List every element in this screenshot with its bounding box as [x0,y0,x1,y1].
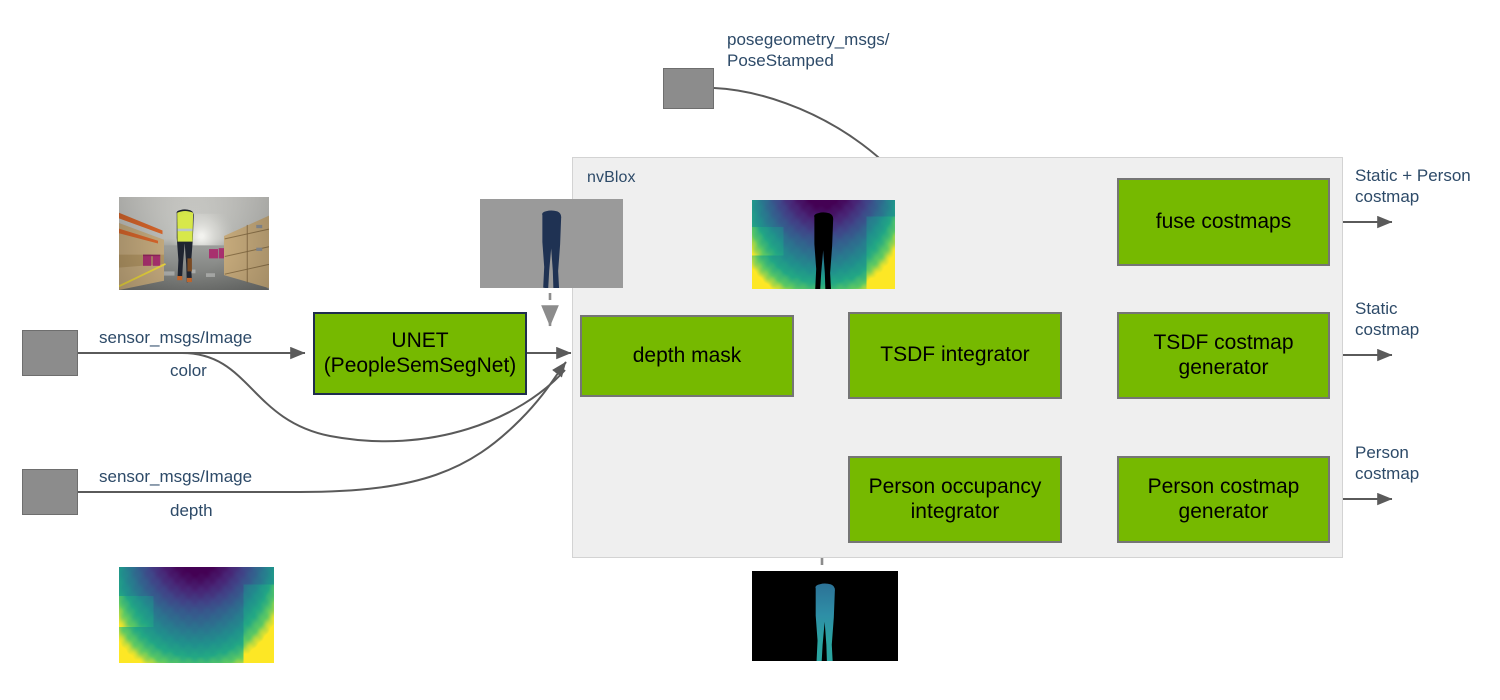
depth-field-label: depth [170,501,213,522]
process-unet[interactable]: UNET (PeopleSemSegNet) [313,312,527,395]
process-person-cm-line1: Person costmap [1148,475,1300,499]
process-person-occ-line1: Person occupancy [869,475,1042,499]
diagram-canvas: nvBlox posegeometry_msgs/ PoseStamped se… [0,0,1500,700]
output-static-label: Static costmap [1355,299,1419,340]
thumbnail-depth-input [119,567,274,663]
process-depth-mask-line1: depth mask [633,344,742,368]
thumbnail-person-depth [752,571,898,661]
process-fuse-costmaps[interactable]: fuse costmaps [1117,178,1330,266]
depth-topic-label: sensor_msgs/Image [99,467,252,488]
color-camera-node[interactable] [22,330,78,376]
process-tsdf-integrator-line1: TSDF integrator [880,343,1029,367]
process-tsdf-cm-line2: generator [1153,356,1293,380]
process-tsdf-integrator[interactable]: TSDF integrator [848,312,1062,399]
color-field-label: color [170,361,207,382]
color-topic-label: sensor_msgs/Image [99,328,252,349]
process-person-occupancy-integrator[interactable]: Person occupancy integrator [848,456,1062,543]
thumbnail-masked-depth [752,200,895,289]
process-unet-line2: (PeopleSemSegNet) [324,354,517,378]
pose-source-node[interactable] [663,68,714,109]
process-tsdf-cm-line1: TSDF costmap [1153,331,1293,355]
process-person-costmap-generator[interactable]: Person costmap generator [1117,456,1330,543]
process-unet-line1: UNET [324,329,517,353]
process-depth-mask[interactable]: depth mask [580,315,794,397]
process-person-occ-line2: integrator [869,500,1042,524]
depth-camera-node[interactable] [22,469,78,515]
process-tsdf-costmap-generator[interactable]: TSDF costmap generator [1117,312,1330,399]
process-person-cm-line2: generator [1148,500,1300,524]
nvblox-container-label: nvBlox [587,169,636,187]
output-person-label: Person costmap [1355,443,1419,484]
thumbnail-rgb-input [119,197,269,290]
pose-topic-label: posegeometry_msgs/ PoseStamped [727,30,890,71]
output-fused-label: Static + Person costmap [1355,166,1471,207]
thumbnail-segmentation-mask [480,199,623,288]
process-fuse-line1: fuse costmaps [1156,210,1291,234]
